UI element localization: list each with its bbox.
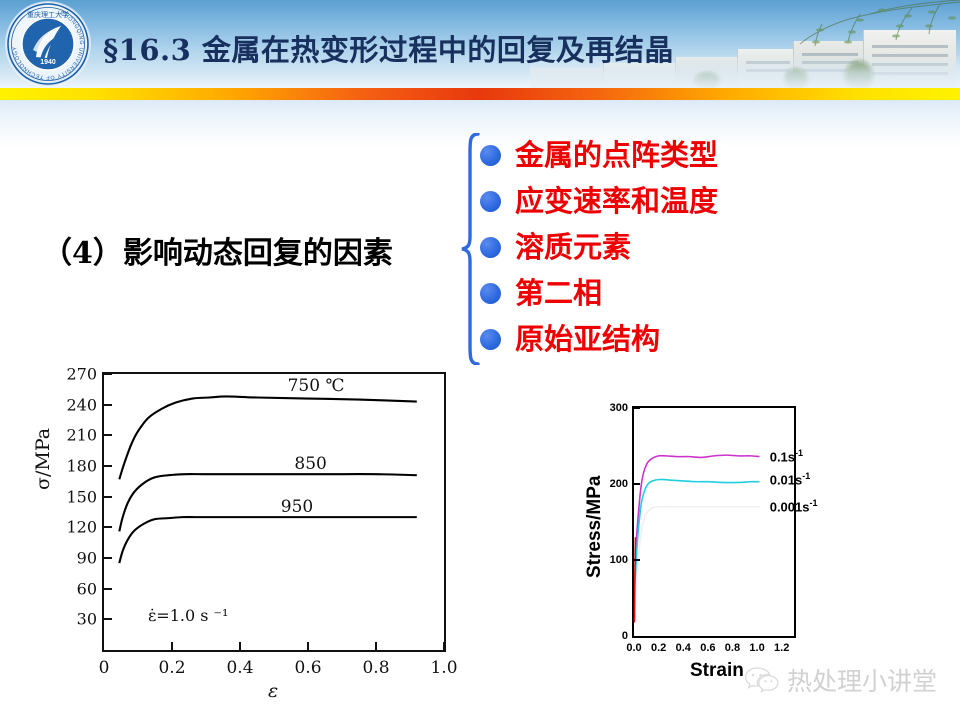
curve-750 ℃ — [119, 396, 417, 479]
x-axis-label: ε — [268, 680, 278, 702]
y-tick-label: 120 — [66, 518, 97, 537]
y-axis-label: Stress/MPa — [584, 476, 606, 578]
curve-950 — [119, 517, 417, 563]
x-tick-label: 0 — [99, 658, 110, 678]
series-label-text: 0.1s — [770, 449, 795, 464]
bullet-label: 应变速率和温度 — [515, 187, 718, 216]
y-tick-label: 200 — [610, 478, 628, 490]
bullet-dot-icon — [480, 329, 501, 350]
watermark: 热处理小讲堂 — [745, 662, 937, 698]
x-tick-label: 1.2 — [774, 642, 789, 654]
curve-label: 750 ℃ — [288, 376, 345, 396]
wechat-icon — [745, 666, 779, 694]
stress-strain-chart-strainrate: Stress/MPa Strain 0100200300 0.00.20.40.… — [578, 392, 908, 692]
list-item[interactable]: 金属的点阵类型 — [480, 132, 900, 178]
y-tick-label: 60 — [77, 579, 97, 598]
y-tick-label: 90 — [77, 549, 97, 568]
page-title: §16.3 金属在热变形过程中的回复及再结晶 — [103, 28, 893, 76]
y-tick-mark — [634, 559, 640, 561]
x-tick-label: 0.4 — [226, 658, 253, 678]
y-tick-mark — [104, 588, 112, 590]
y-tick-label: 300 — [610, 402, 628, 414]
y-tick-mark — [634, 407, 640, 409]
gold-divider-bar — [0, 88, 960, 100]
bullet-dot-icon — [480, 145, 501, 166]
strain-rate-annotation: ε̇=1.0 s ⁻¹ — [148, 606, 228, 625]
bullet-label: 第二相 — [515, 279, 602, 308]
x-tick-mark — [375, 642, 377, 650]
curve-label: 850 — [294, 454, 326, 474]
x-tick-label: 0.2 — [158, 658, 185, 678]
slide-header: 1940 CHONGQING UNIVERSITY OF TECHNOLOGY … — [0, 0, 960, 88]
curve-850 — [119, 474, 417, 531]
y-tick-mark — [104, 618, 112, 620]
curve-0.1s-1 — [635, 455, 760, 605]
bullet-dot-icon — [480, 237, 501, 258]
plot-area: 0100200300 0.00.20.40.60.81.01.2 — [632, 406, 796, 638]
y-tick-mark — [104, 373, 112, 375]
list-item[interactable]: 溶质元素 — [480, 224, 900, 270]
bullet-list: 金属的点阵类型 应变速率和温度 溶质元素 第二相 原始亚结构 — [480, 132, 900, 362]
university-logo: 1940 CHONGQING UNIVERSITY OF TECHNOLOGY … — [6, 2, 90, 86]
bullet-dot-icon — [480, 191, 501, 212]
x-tick-mark — [443, 642, 445, 650]
stress-strain-chart-temperature: σ/MPa ε 306090120150180210240270 00.20.4… — [36, 362, 456, 702]
x-tick-mark — [307, 642, 309, 650]
watermark-text: 热处理小讲堂 — [787, 662, 937, 698]
x-tick-label: 0.8 — [362, 658, 389, 678]
y-tick-mark — [104, 434, 112, 436]
svg-text:1940: 1940 — [40, 59, 56, 66]
x-axis-label: Strain — [690, 660, 744, 682]
curves-layer — [634, 408, 794, 636]
university-seal-icon: 1940 CHONGQING UNIVERSITY OF TECHNOLOGY … — [6, 2, 90, 86]
y-tick-mark — [634, 483, 640, 485]
y-tick-mark — [104, 404, 112, 406]
bullet-label: 金属的点阵类型 — [515, 141, 718, 170]
list-item[interactable]: 第二相 — [480, 270, 900, 316]
y-tick-label: 100 — [610, 554, 628, 566]
list-item[interactable]: 原始亚结构 — [480, 316, 900, 362]
y-tick-label: 0 — [622, 630, 628, 642]
y-tick-label: 30 — [77, 610, 97, 629]
x-tick-label: 0.6 — [700, 642, 715, 654]
y-tick-mark — [104, 496, 112, 498]
y-tick-label: 270 — [66, 365, 97, 384]
svg-text:重庆理工大学: 重庆理工大学 — [27, 10, 69, 19]
x-tick-label: 0.4 — [676, 642, 691, 654]
x-tick-label: 0.6 — [294, 658, 321, 678]
section-heading: （4）影响动态回复的因素 — [42, 228, 393, 272]
curve-0.001s-1 — [635, 507, 760, 621]
x-tick-label: 1.0 — [749, 642, 764, 654]
y-tick-label: 240 — [66, 395, 97, 414]
curve-label: 950 — [281, 497, 313, 517]
bullet-dot-icon — [480, 283, 501, 304]
series-label: 0.01s-1 — [770, 471, 811, 487]
x-tick-mark — [171, 642, 173, 650]
y-tick-label: 210 — [66, 426, 97, 445]
bullet-label: 溶质元素 — [515, 233, 631, 262]
y-tick-mark — [104, 557, 112, 559]
series-label: 0.001s-1 — [770, 498, 818, 514]
series-label-exponent: -1 — [809, 498, 817, 508]
x-tick-mark — [239, 642, 241, 650]
series-label: 0.1s-1 — [770, 448, 803, 464]
list-item[interactable]: 应变速率和温度 — [480, 178, 900, 224]
x-tick-label: 1.0 — [430, 658, 457, 678]
y-tick-mark — [104, 526, 112, 528]
curve-0.01s-1 — [635, 479, 760, 613]
y-tick-label: 150 — [66, 487, 97, 506]
x-tick-label: 0.2 — [651, 642, 666, 654]
x-tick-label: 0.8 — [725, 642, 740, 654]
series-label-text: 0.01s — [770, 472, 803, 487]
series-label-exponent: -1 — [795, 448, 803, 458]
series-label-exponent: -1 — [802, 471, 810, 481]
curve-initial-red-segment — [634, 537, 635, 622]
x-tick-label: 0.0 — [626, 642, 641, 654]
bullet-label: 原始亚结构 — [515, 325, 660, 354]
series-label-text: 0.001s — [770, 499, 810, 514]
y-axis-label: σ/MPa — [32, 428, 54, 490]
y-tick-mark — [104, 465, 112, 467]
y-tick-label: 180 — [66, 457, 97, 476]
